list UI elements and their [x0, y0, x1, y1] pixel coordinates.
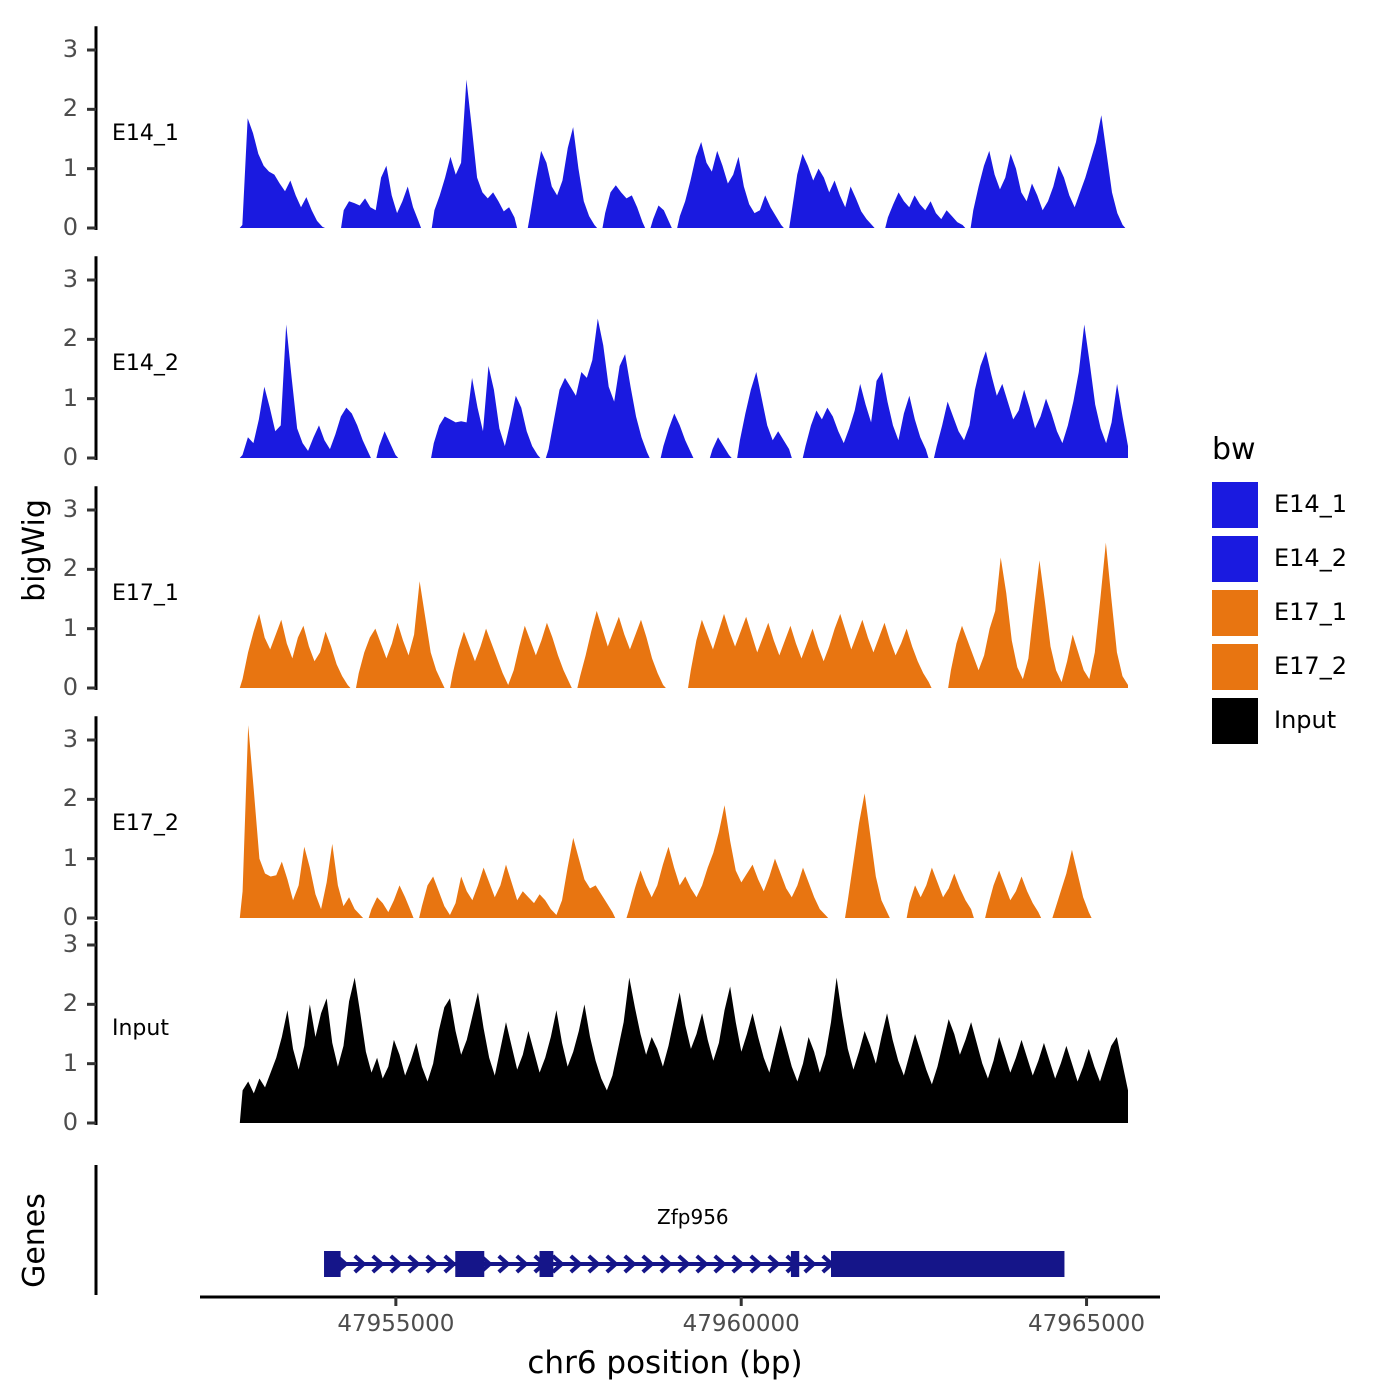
y-tick-label: 1 [44, 384, 78, 412]
legend-swatch-icon [1212, 482, 1258, 528]
y-tick-label: 2 [44, 989, 78, 1017]
legend-label: E17_1 [1274, 598, 1347, 626]
track-label-e14_1: E14_1 [112, 121, 179, 146]
y-tick-label: 2 [44, 784, 78, 812]
track-label-e17_1: E17_1 [112, 581, 179, 606]
legend-swatch-icon [1212, 644, 1258, 690]
y-tick-label: 1 [44, 614, 78, 642]
legend-item-e14_1[interactable]: E14_1 [1212, 482, 1392, 536]
genome-browser-plot [0, 0, 1400, 1400]
legend-item-e17_1[interactable]: E17_1 [1212, 590, 1392, 644]
y-tick-label: 0 [44, 1108, 78, 1136]
legend-label: Input [1274, 706, 1336, 734]
y-tick-label: 2 [44, 554, 78, 582]
track-label-e17_2: E17_2 [112, 811, 179, 836]
y-tick-label: 3 [44, 495, 78, 523]
legend-label: E17_2 [1274, 652, 1347, 680]
y-tick-label: 3 [44, 35, 78, 63]
x-tick-label: 47965000 [987, 1311, 1187, 1337]
y-tick-label: 0 [44, 443, 78, 471]
y-tick-label: 2 [44, 94, 78, 122]
legend-item-e17_2[interactable]: E17_2 [1212, 644, 1392, 698]
legend-swatch-icon [1212, 590, 1258, 636]
y-tick-label: 2 [44, 324, 78, 352]
legend-label: E14_2 [1274, 544, 1347, 572]
x-tick-label: 47960000 [641, 1311, 841, 1337]
legend-item-input[interactable]: Input [1212, 698, 1392, 752]
track-label-e14_2: E14_2 [112, 351, 179, 376]
legend-title: bw [1212, 432, 1256, 467]
y-tick-label: 1 [44, 1049, 78, 1077]
y-tick-label: 0 [44, 903, 78, 931]
y-tick-label: 0 [44, 673, 78, 701]
legend-label: E14_1 [1274, 490, 1347, 518]
y-tick-label: 3 [44, 725, 78, 753]
legend-swatch-icon [1212, 536, 1258, 582]
y-tick-label: 3 [44, 930, 78, 958]
gene-name-label: Zfp956 [583, 1205, 803, 1229]
legend-swatch-icon [1212, 698, 1258, 744]
x-tick-label: 47955000 [296, 1311, 496, 1337]
x-axis-title: chr6 position (bp) [200, 1345, 1130, 1381]
y-tick-label: 0 [44, 213, 78, 241]
y-tick-label: 1 [44, 844, 78, 872]
y-tick-label: 3 [44, 265, 78, 293]
track-label-input: Input [112, 1016, 169, 1041]
legend-item-e14_2[interactable]: E14_2 [1212, 536, 1392, 590]
y-tick-label: 1 [44, 154, 78, 182]
